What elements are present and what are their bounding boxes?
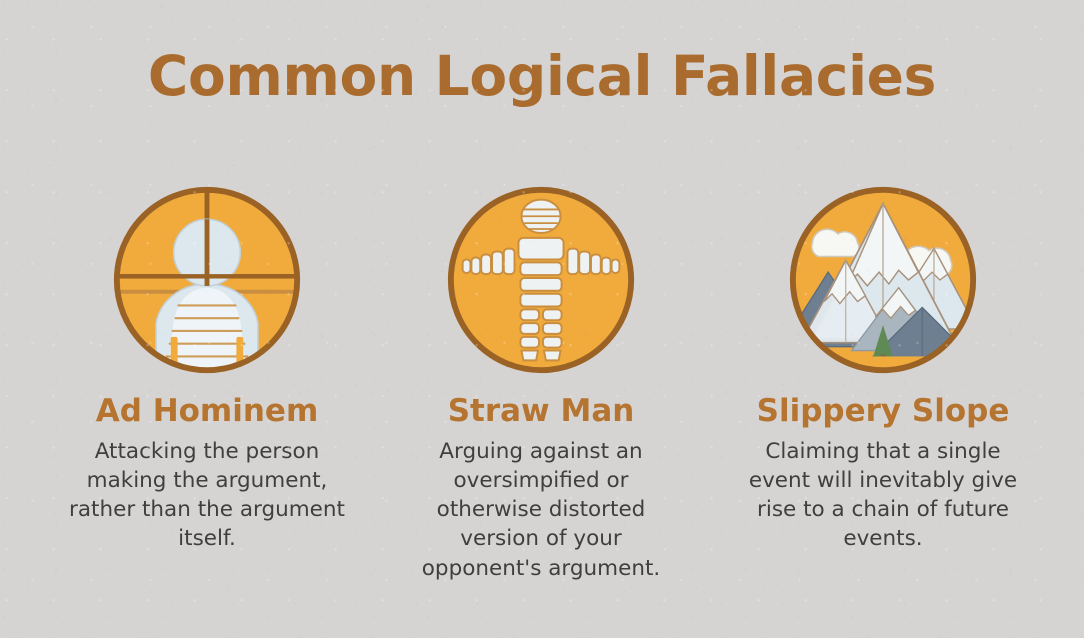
fallacy-card-row: Ad Hominem Attacking the person making t… [0, 182, 1084, 583]
slide-canvas: Common Logical Fallacies [0, 0, 1084, 638]
card-body-slippery-slope: Claiming that a single event will inevit… [733, 437, 1033, 554]
card-heading-slippery-slope: Slippery Slope [757, 394, 1010, 430]
fallacy-card-straw-man: Straw Man Arguing against an oversimpifi… [371, 182, 711, 583]
scarecrow-icon [443, 182, 639, 378]
crosshair-person-icon [109, 182, 305, 378]
page-title: Common Logical Fallacies [0, 44, 1084, 108]
card-heading-straw-man: Straw Man [448, 394, 635, 430]
card-body-ad-hominem: Attacking the person making the argument… [61, 437, 353, 554]
fallacy-card-slippery-slope: Slippery Slope Claiming that a single ev… [713, 182, 1053, 554]
card-body-straw-man: Arguing against an oversimpified or othe… [405, 437, 677, 583]
mountain-slope-icon [785, 182, 981, 378]
fallacy-card-ad-hominem: Ad Hominem Attacking the person making t… [37, 182, 377, 554]
card-heading-ad-hominem: Ad Hominem [96, 394, 319, 430]
